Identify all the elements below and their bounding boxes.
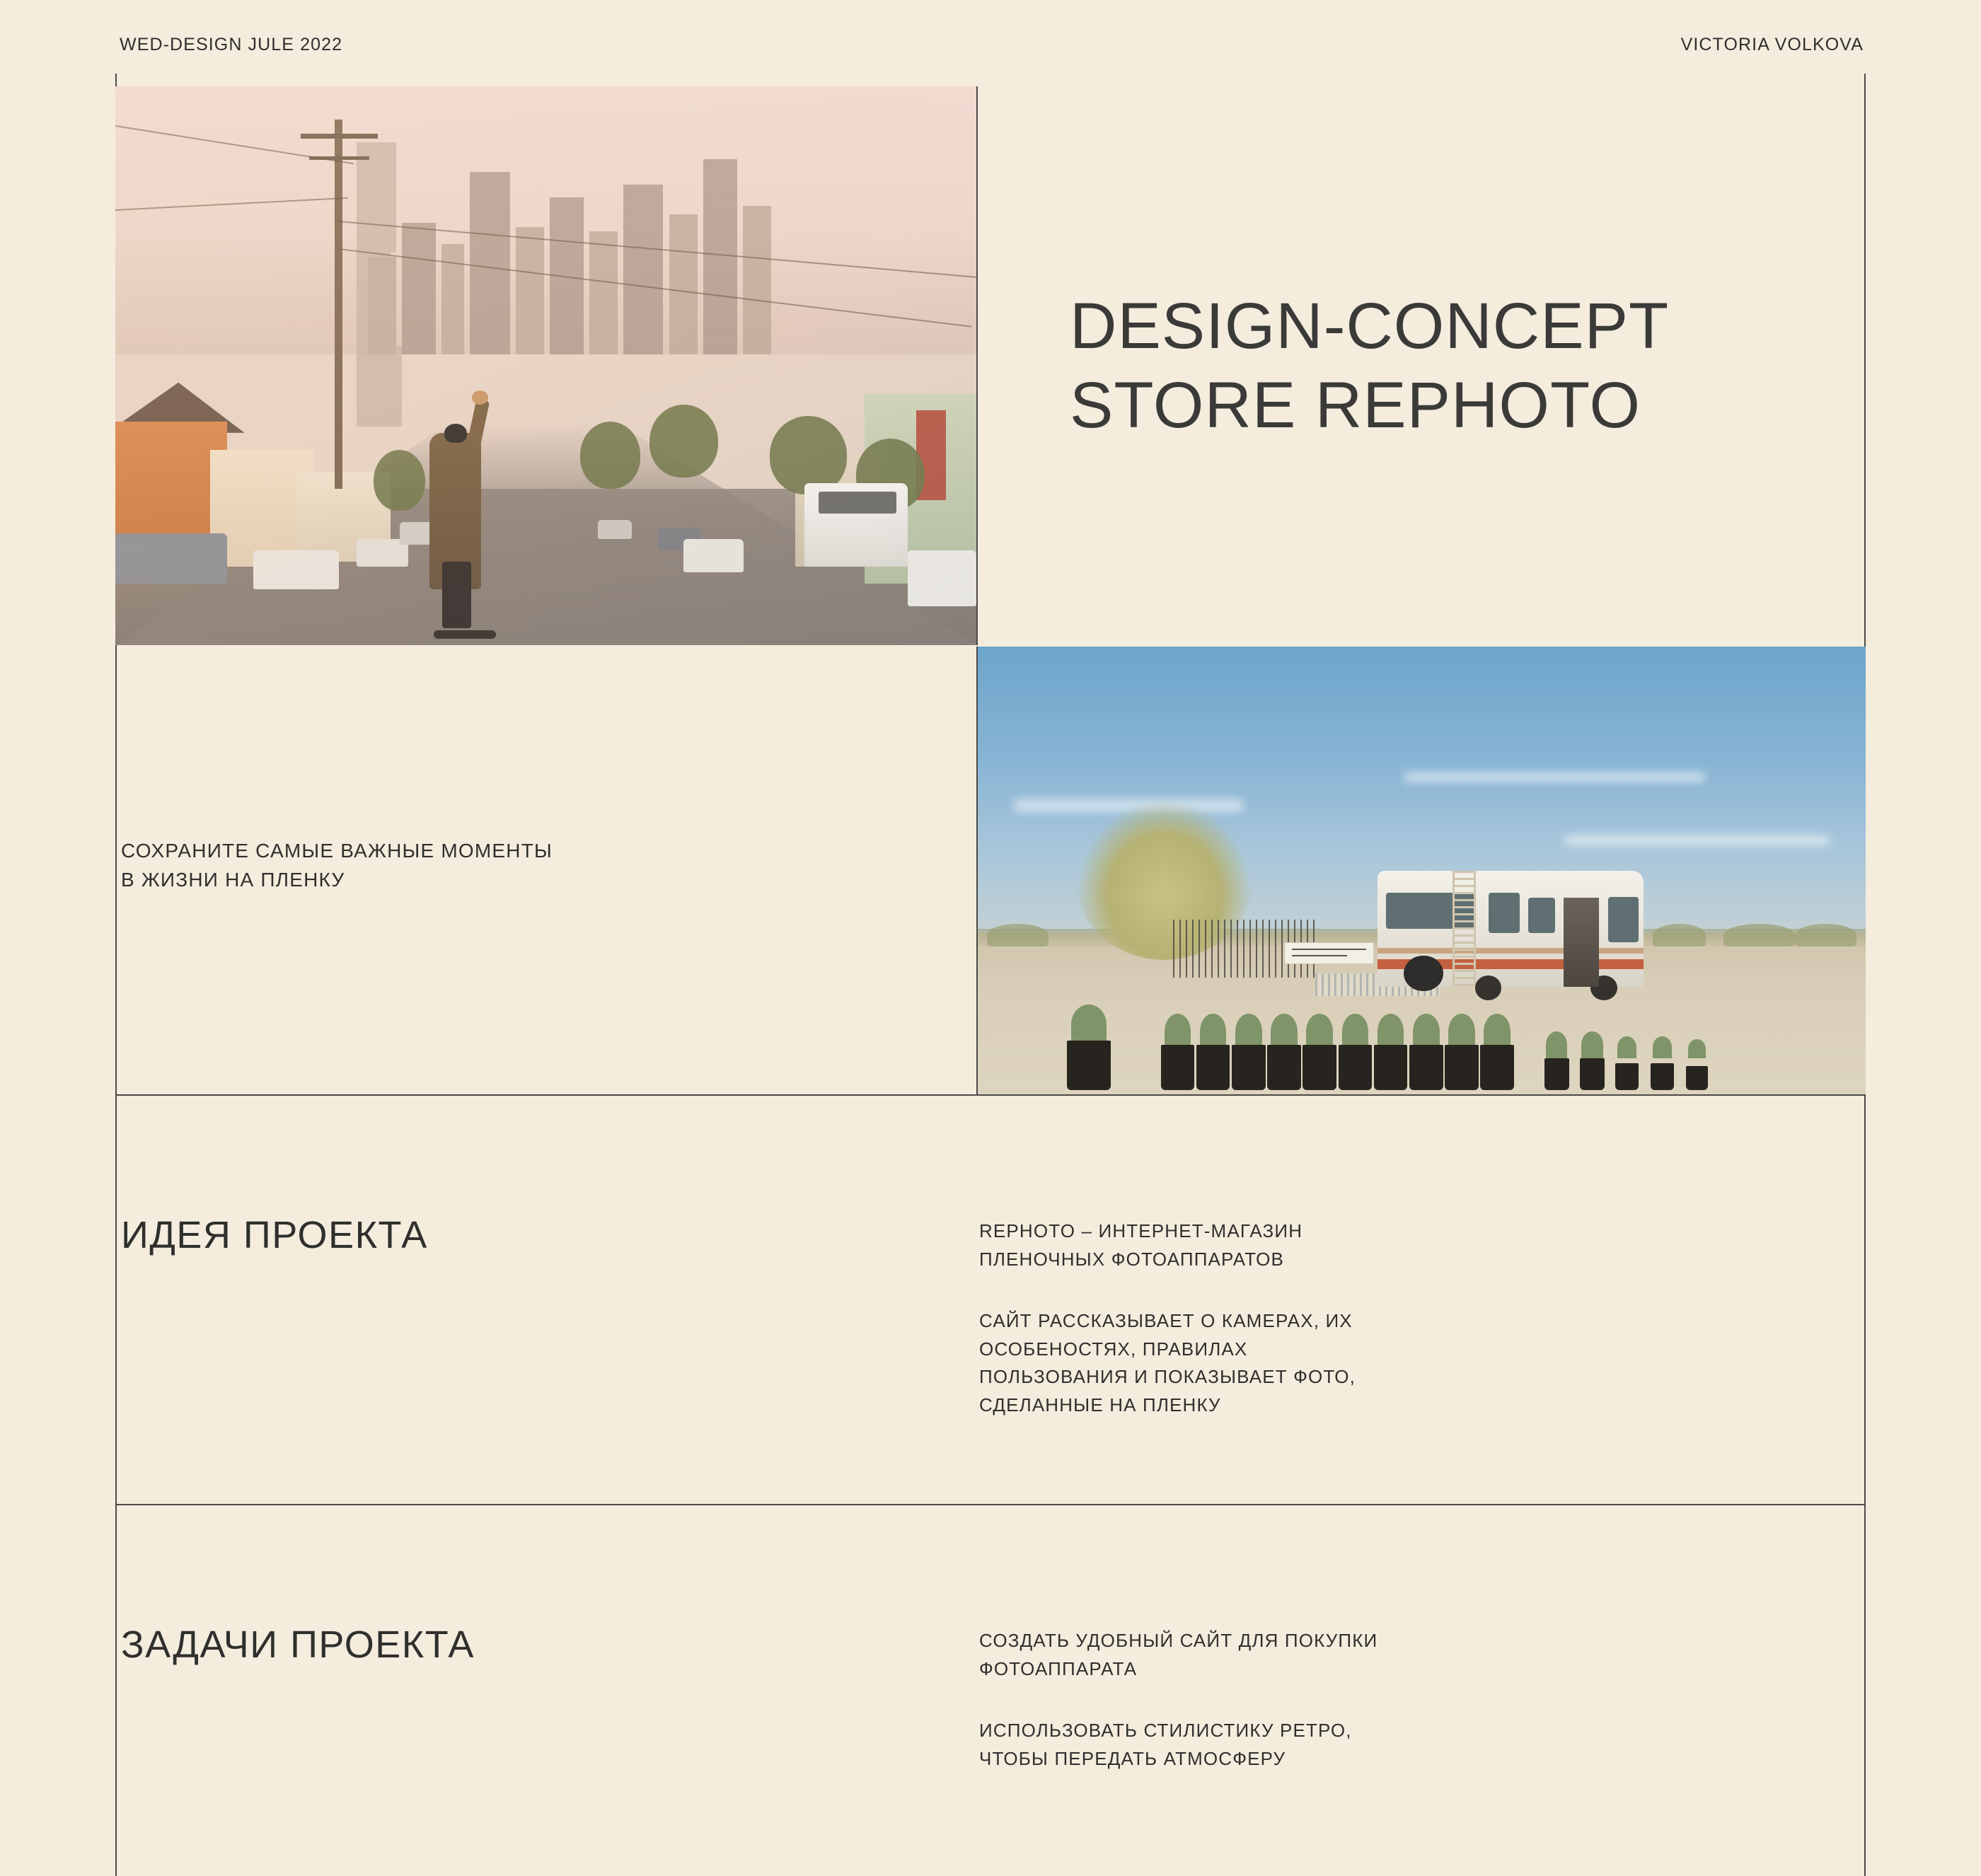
tagline-photo-desert-rv: [978, 647, 1866, 1094]
presentation-slide: WED-DESIGN JULE 2022 VICTORIA VOLKOVA: [0, 0, 1981, 1876]
section-tasks-paragraph-2: ИСПОЛЬЗОВАТЬ СТИЛИСТИКУ РЕТРО,ЧТОБЫ ПЕРЕ…: [979, 1717, 1489, 1773]
section-idea-heading-cell: ИДЕЯ ПРОЕКТА: [115, 1096, 978, 1504]
section-idea-heading: ИДЕЯ ПРОЕКТА: [121, 1216, 978, 1254]
section-tasks-heading: ЗАДАЧИ ПРОЕКТА: [121, 1626, 978, 1664]
tagline-line-2: В ЖИЗНИ НА ПЛЕНКУ: [121, 866, 553, 895]
tagline-row: СОХРАНИТЕ САМЫЕ ВАЖНЫЕ МОМЕНТЫ В ЖИЗНИ Н…: [115, 647, 1866, 1094]
page-title-line-2: STORE REPHOTO: [1070, 366, 1866, 445]
section-tasks: ЗАДАЧИ ПРОЕКТА СОЗДАТЬ УДОБНЫЙ САЙТ ДЛЯ …: [115, 1505, 1866, 1876]
header-project-label: WED-DESIGN JULE 2022: [120, 36, 342, 54]
section-idea-body: REPHOTO – ИНТЕРНЕТ-МАГАЗИНПЛЕНОЧНЫХ ФОТО…: [978, 1096, 1866, 1504]
page-title-line-1: DESIGN-CONCEPT: [1070, 286, 1866, 366]
hero-title-cell: DESIGN-CONCEPT STORE REPHOTO: [978, 86, 1866, 645]
hero-row: DESIGN-CONCEPT STORE REPHOTO: [115, 86, 1866, 645]
section-idea: ИДЕЯ ПРОЕКТА REPHOTO – ИНТЕРНЕТ-МАГАЗИНП…: [115, 1096, 1866, 1504]
tagline-line-1: СОХРАНИТЕ САМЫЕ ВАЖНЫЕ МОМЕНТЫ: [121, 837, 553, 866]
hero-photo-skater: [115, 86, 978, 645]
section-tasks-body: СОЗДАТЬ УДОБНЫЙ САЙТ ДЛЯ ПОКУПКИФОТОАППА…: [978, 1505, 1866, 1876]
section-tasks-heading-cell: ЗАДАЧИ ПРОЕКТА: [115, 1505, 978, 1876]
header-author-label: VICTORIA VOLKOVA: [1681, 36, 1864, 54]
tagline-text: СОХРАНИТЕ САМЫЕ ВАЖНЫЕ МОМЕНТЫ В ЖИЗНИ Н…: [115, 837, 553, 894]
section-idea-paragraph-1: REPHOTO – ИНТЕРНЕТ-МАГАЗИНПЛЕНОЧНЫХ ФОТО…: [979, 1217, 1489, 1273]
section-tasks-paragraph-1: СОЗДАТЬ УДОБНЫЙ САЙТ ДЛЯ ПОКУПКИФОТОАППА…: [979, 1627, 1489, 1683]
section-idea-paragraph-2: САЙТ РАССКАЗЫВАЕТ О КАМЕРАХ, ИХОСОБЕНОСТ…: [979, 1307, 1489, 1419]
header-meta-row: WED-DESIGN JULE 2022 VICTORIA VOLKOVA: [115, 33, 1865, 57]
tagline-cell: СОХРАНИТЕ САМЫЕ ВАЖНЫЕ МОМЕНТЫ В ЖИЗНИ Н…: [115, 647, 978, 1094]
